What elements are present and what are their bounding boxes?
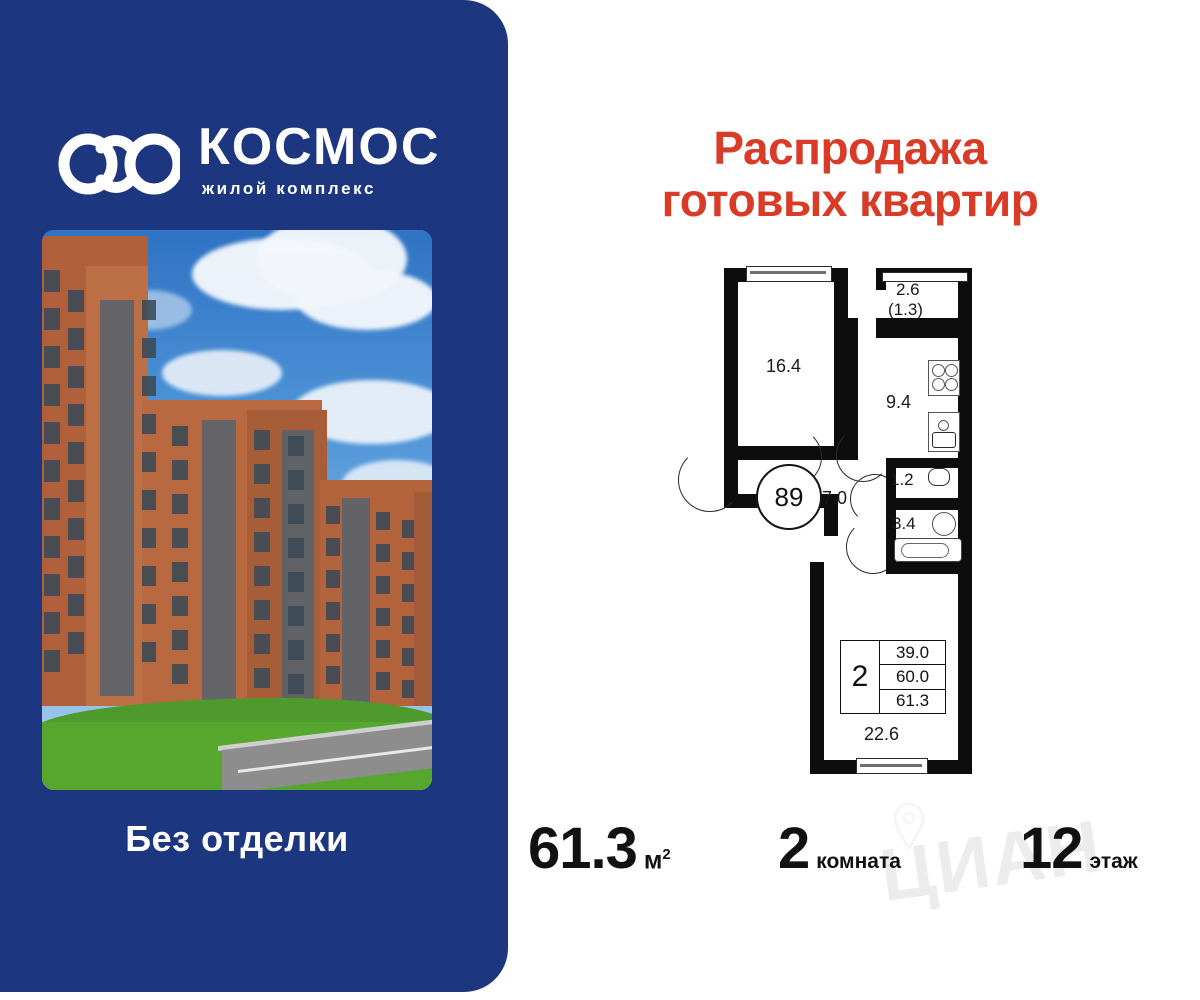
wall	[886, 498, 972, 510]
stat-value: 2	[778, 820, 809, 878]
stove-burner	[932, 364, 945, 377]
stat-total-area: 61.3 м2	[528, 820, 671, 878]
stat-value: 61.3	[528, 820, 637, 878]
stat-floor: 12 этаж	[1020, 820, 1138, 878]
advert-card: КОСМОС жилой комплекс	[0, 0, 1200, 1000]
washbasin-icon	[932, 512, 956, 536]
living-area: 39.0	[880, 641, 945, 665]
brand-subtitle: жилой комплекс	[202, 178, 440, 200]
infinity-icon	[52, 126, 180, 202]
window-glass	[860, 764, 922, 767]
entry-door-arc	[678, 448, 742, 512]
building-photo	[42, 230, 432, 790]
floor-plan: 16.4 2.6 (1.3) 9.4 7.0 89	[700, 262, 972, 782]
toilet-icon	[928, 468, 950, 486]
sink-basin	[932, 432, 956, 448]
window-glass	[750, 271, 826, 274]
bathtub-icon	[894, 538, 962, 562]
balcony-coefficient-label: (1.3)	[888, 300, 923, 320]
headline-line-2: готовых квартир	[536, 174, 1164, 226]
finish-caption: Без отделки	[42, 818, 432, 860]
wall	[886, 562, 972, 574]
apartment-number-badge: 89	[756, 464, 822, 530]
wall	[834, 268, 848, 460]
total-area: 61.3	[880, 690, 945, 713]
wall	[810, 562, 824, 774]
sink-tap	[938, 420, 949, 431]
room-area-label: 7.0	[822, 488, 847, 509]
window	[746, 266, 832, 282]
stat-value: 12	[1020, 820, 1083, 878]
room-area-label: 1.2	[890, 470, 914, 490]
rooms-count: 2	[841, 641, 880, 713]
wall	[876, 318, 958, 338]
stat-unit: этаж	[1090, 850, 1138, 874]
brand-name: КОСМОС	[198, 118, 440, 176]
balcony-area-label: 2.6	[896, 280, 920, 300]
wall	[810, 760, 862, 774]
brand-logo: КОСМОС жилой комплекс	[52, 118, 452, 214]
room-area-label: 3.4	[892, 514, 916, 534]
room-area-label: 9.4	[886, 392, 911, 413]
stove-burner	[945, 364, 958, 377]
headline-line-1: Распродажа	[536, 122, 1164, 174]
apartment-stats: 61.3 м2 2 комната 12 этаж	[508, 806, 1200, 902]
left-blue-panel: КОСМОС жилой комплекс	[0, 0, 508, 992]
wall	[958, 574, 972, 774]
stat-unit: комната	[816, 850, 901, 874]
apartment-summary-box: 2 39.0 60.0 61.3	[840, 640, 946, 714]
room-area-label: 16.4	[766, 356, 801, 377]
wall	[922, 760, 972, 774]
area-without-balcony: 60.0	[880, 665, 945, 689]
stove-burner	[945, 378, 958, 391]
door-arc	[836, 428, 890, 482]
wall	[724, 268, 738, 460]
stat-unit: м2	[644, 846, 671, 875]
square-superscript: 2	[662, 846, 670, 863]
room-area-label: 22.6	[864, 724, 899, 745]
page-title: Распродажа готовых квартир	[536, 122, 1164, 226]
stat-rooms: 2 комната	[778, 820, 901, 878]
wall	[958, 332, 972, 468]
stove-burner	[932, 378, 945, 391]
balcony-glazing	[882, 272, 968, 282]
window-grid	[42, 230, 432, 710]
